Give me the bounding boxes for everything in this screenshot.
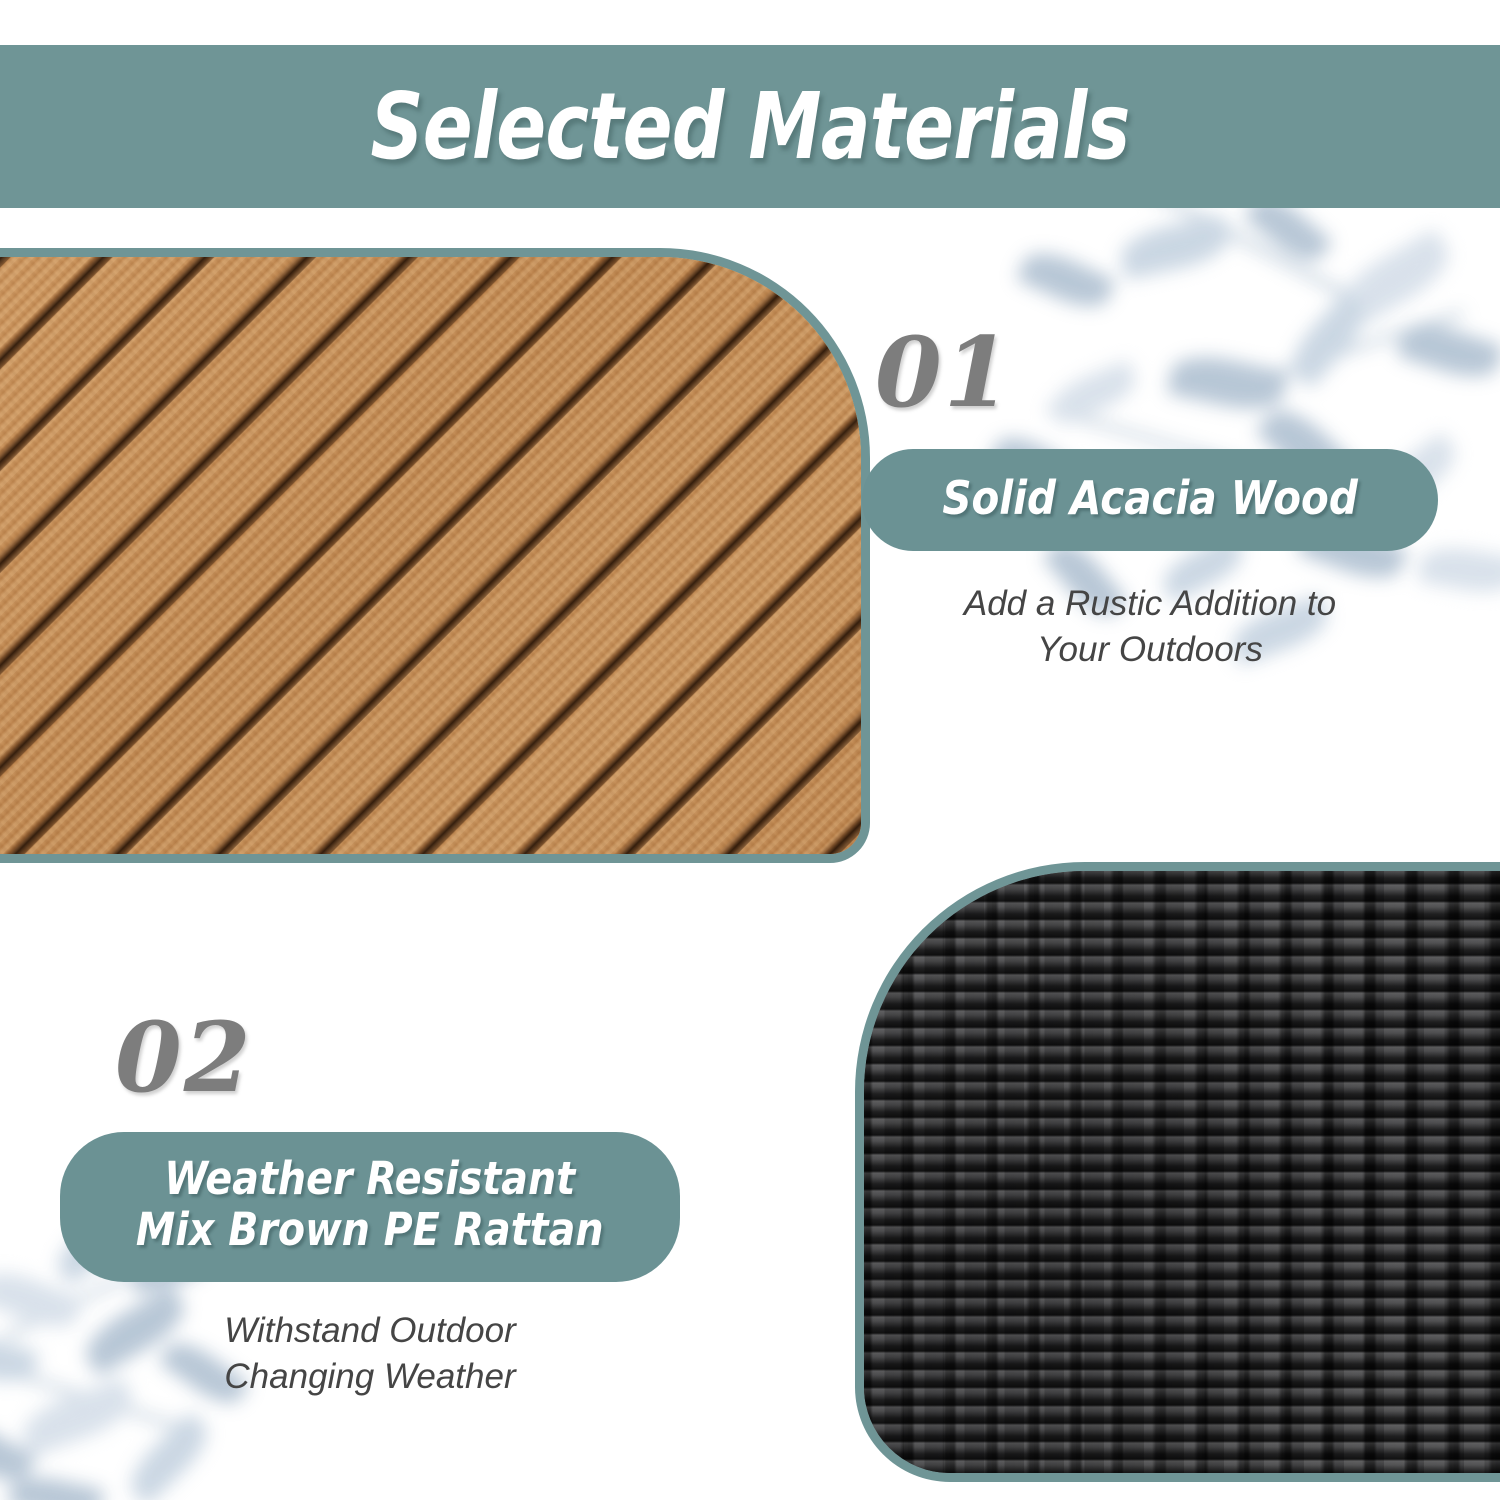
feature-caption-02-line1: Withstand Outdoor	[40, 1308, 700, 1354]
feature-block-01: 01 Solid Acacia Wood Add a Rustic Additi…	[820, 325, 1480, 673]
header-banner: Selected Materials	[0, 45, 1500, 208]
feature-block-02: 02 Weather Resistant Mix Brown PE Rattan…	[40, 1010, 700, 1400]
feature-number-02: 02	[40, 1010, 700, 1106]
acacia-wood-image	[0, 248, 870, 863]
feature-badge-01-label: Solid Acacia Wood	[942, 475, 1357, 521]
feature-caption-01-line1: Add a Rustic Addition to	[820, 581, 1480, 627]
feature-badge-02: Weather Resistant Mix Brown PE Rattan	[60, 1132, 679, 1282]
infographic-page: Selected Materials 01 Solid Acacia Wood …	[0, 0, 1500, 1500]
feature-badge-02-line1: Weather Resistant	[136, 1154, 604, 1205]
feature-badge-02-line2: Mix Brown PE Rattan	[136, 1205, 604, 1256]
feature-caption-02: Withstand Outdoor Changing Weather	[40, 1308, 700, 1400]
feature-badge-01: Solid Acacia Wood	[862, 449, 1438, 551]
feature-caption-01-line2: Your Outdoors	[820, 627, 1480, 673]
pe-rattan-image	[855, 862, 1500, 1482]
feature-caption-02-line2: Changing Weather	[40, 1354, 700, 1400]
rattan-weave-texture	[855, 862, 1500, 1482]
page-title: Selected Materials	[150, 45, 1350, 208]
feature-number-01: 01	[820, 325, 1480, 421]
wood-slat-texture	[0, 248, 870, 863]
feature-caption-01: Add a Rustic Addition to Your Outdoors	[820, 581, 1480, 673]
